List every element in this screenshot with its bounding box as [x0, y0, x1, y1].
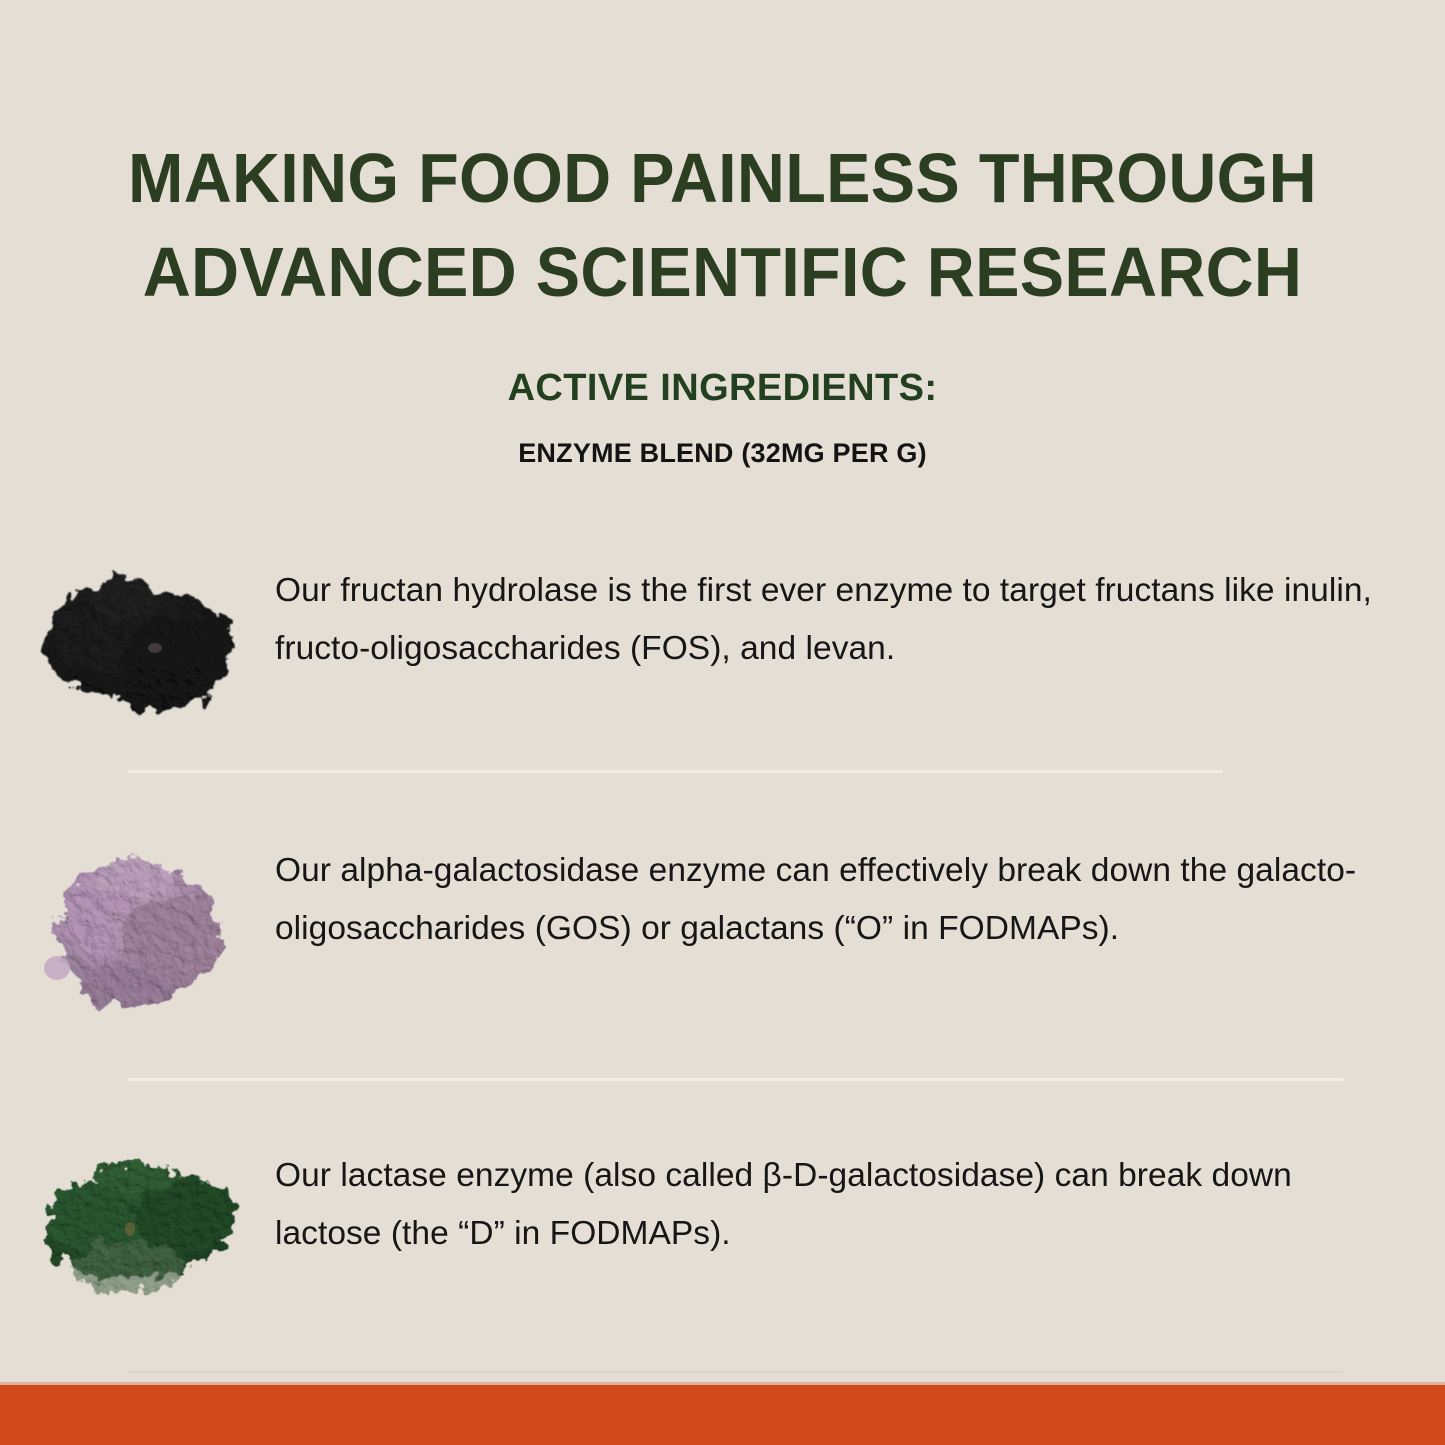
list-item: Our lactase enzyme (also called β-D-gala… [0, 1133, 1445, 1315]
enzyme-description: Our lactase enzyme (also called β-D-gala… [275, 1133, 1445, 1262]
page-title: MAKING FOOD PAINLESS THROUGH ADVANCED SC… [36, 131, 1409, 320]
enzyme-description: Our fructan hydrolase is the first ever … [275, 548, 1445, 677]
fructan-hydrolase-molecule-icon [18, 560, 258, 728]
enzyme-blend-dosage: ENZYME BLEND (32MG PER G) [0, 439, 1445, 469]
list-item: Our fructan hydrolase is the first ever … [0, 548, 1445, 728]
alpha-galactosidase-molecule-icon [23, 840, 253, 1020]
list-item: Our alpha-galactosidase enzyme can effec… [0, 828, 1445, 1020]
enzyme-thumbnail [0, 828, 275, 1020]
enzyme-description: Our alpha-galactosidase enzyme can effec… [275, 828, 1445, 957]
enzyme-thumbnail [0, 1133, 275, 1315]
bottom-accent-bar [0, 1385, 1445, 1445]
row-divider [128, 1371, 1343, 1373]
active-ingredients-heading: ACTIVE INGREDIENTS: [0, 368, 1445, 410]
active-ingredients-block: ACTIVE INGREDIENTS: ENZYME BLEND (32MG P… [0, 368, 1445, 468]
product-info-panel: MAKING FOOD PAINLESS THROUGH ADVANCED SC… [0, 0, 1445, 1445]
enzyme-thumbnail [0, 548, 275, 728]
enzyme-list: Our fructan hydrolase is the first ever … [0, 548, 1445, 1373]
lactase-molecule-icon [18, 1145, 258, 1315]
